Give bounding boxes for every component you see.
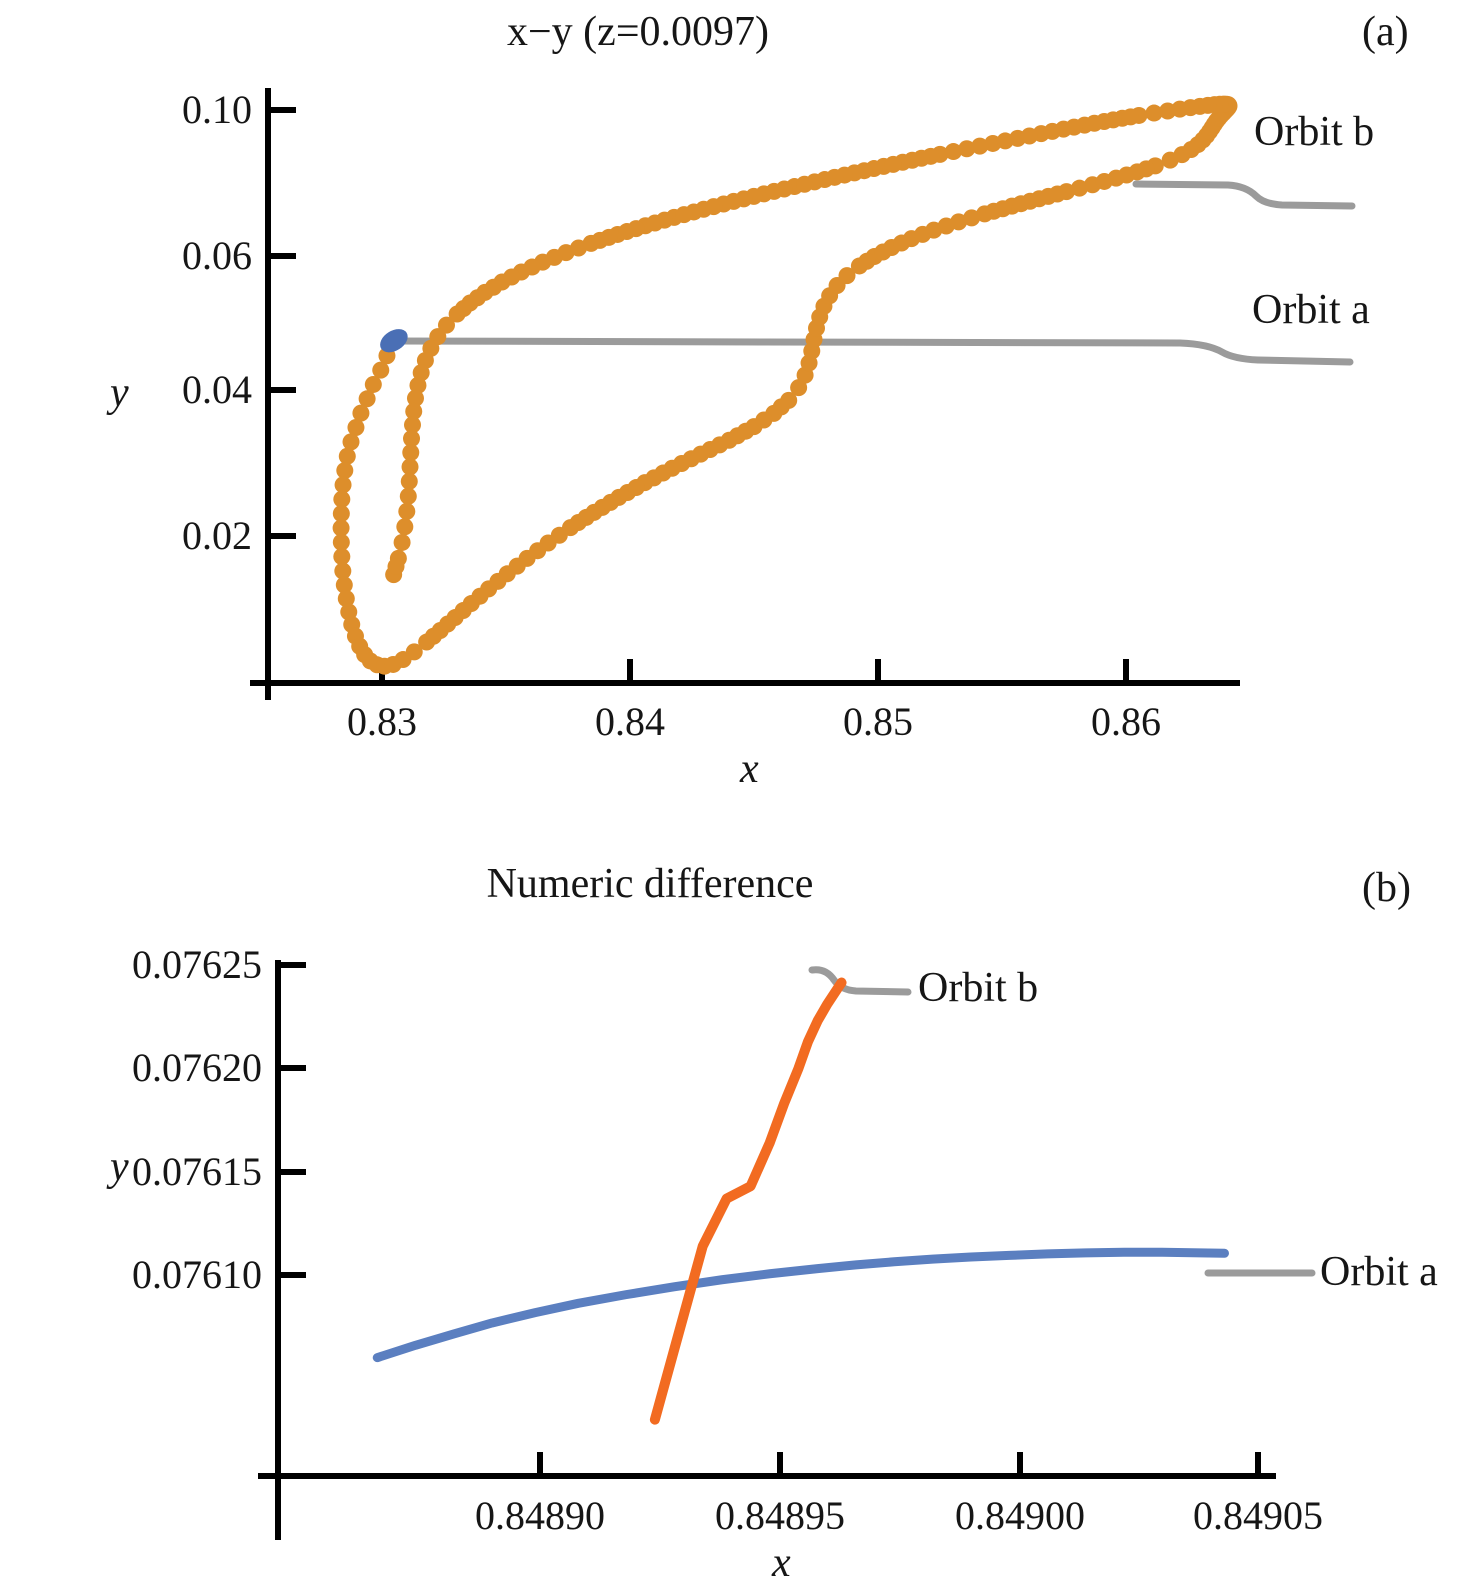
panel-b-xtick-label-0: 0.84890 bbox=[475, 1496, 605, 1536]
scatter-point bbox=[737, 423, 754, 440]
scatter-point bbox=[683, 450, 700, 467]
scatter-point bbox=[1146, 105, 1163, 122]
scatter-point bbox=[885, 156, 902, 173]
panel-a-xtick-label-3: 0.86 bbox=[1091, 702, 1161, 742]
panel-a-xtick-label-2: 0.85 bbox=[843, 702, 913, 742]
panel-a-xtick-label-0: 0.83 bbox=[347, 702, 417, 742]
scatter-point bbox=[997, 132, 1014, 149]
scatter-point bbox=[524, 259, 541, 276]
scatter-point bbox=[994, 200, 1011, 217]
panel-b: Numeric difference (b) bbox=[0, 840, 1476, 1592]
scatter-point bbox=[618, 223, 635, 240]
panel-b-xaxis-label: x bbox=[772, 1542, 791, 1584]
scatter-point bbox=[856, 162, 873, 179]
panel-a-xaxis-label: x bbox=[740, 748, 759, 790]
scatter-point bbox=[471, 588, 488, 605]
scatter-point bbox=[570, 240, 587, 257]
panel-b-ytick-label-2: 0.07620 bbox=[56, 1048, 262, 1088]
scatter-point bbox=[655, 465, 672, 482]
panel-b-ytick-label-1: 0.07615 bbox=[56, 1152, 262, 1192]
scatter-point bbox=[755, 412, 772, 429]
panel-a: x−y (z=0.0097) (a) bbox=[0, 0, 1476, 840]
scatter-point bbox=[602, 494, 619, 511]
scatter-point bbox=[489, 573, 506, 590]
scatter-point bbox=[1118, 167, 1135, 184]
panel-b-series-orbit-b bbox=[655, 983, 842, 1420]
scatter-point bbox=[1066, 119, 1083, 136]
scatter-point bbox=[766, 183, 783, 200]
scatter-point bbox=[1071, 180, 1088, 197]
scatter-point bbox=[1022, 193, 1039, 210]
scatter-point bbox=[971, 138, 988, 155]
panel-b-label-orbit-a: Orbit a bbox=[1320, 1250, 1438, 1294]
panel-a-label-orbit-b: Orbit b bbox=[1254, 110, 1374, 154]
scatter-point bbox=[675, 206, 692, 223]
scatter-point bbox=[455, 602, 472, 619]
panel-a-ytick-label-1: 0.06 bbox=[46, 236, 252, 276]
scatter-point bbox=[705, 198, 722, 215]
scatter-point bbox=[1049, 185, 1066, 202]
scatter-point bbox=[1044, 123, 1061, 140]
scatter-point bbox=[394, 534, 411, 551]
panel-a-ytick-label-3: 0.02 bbox=[46, 516, 252, 556]
panel-b-ytick-label-3: 0.07625 bbox=[56, 945, 262, 985]
scatter-point bbox=[1096, 173, 1113, 190]
scatter-point bbox=[439, 616, 456, 633]
scatter-point bbox=[336, 462, 353, 479]
scatter-point bbox=[551, 527, 568, 544]
scatter-point bbox=[455, 300, 472, 317]
scatter-point bbox=[938, 217, 955, 234]
scatter-point bbox=[963, 209, 980, 226]
scatter-point bbox=[893, 235, 910, 252]
scatter-point bbox=[874, 244, 891, 261]
panel-b-ytick-label-0: 0.07610 bbox=[56, 1255, 262, 1295]
scatter-point bbox=[509, 558, 526, 575]
scatter-point bbox=[796, 176, 813, 193]
scatter-point bbox=[591, 232, 608, 249]
panel-a-yaxis-label: y bbox=[110, 372, 129, 414]
scatter-point bbox=[400, 488, 417, 505]
panel-b-xtick-label-3: 0.84905 bbox=[1193, 1496, 1323, 1536]
panel-b-xtick-label-1: 0.84895 bbox=[715, 1496, 845, 1536]
panel-b-series-orbit-a bbox=[377, 1252, 1224, 1357]
scatter-point bbox=[914, 226, 931, 243]
scatter-point bbox=[945, 143, 962, 160]
panel-a-leader-orbit-a bbox=[390, 341, 1350, 362]
figure-container: x−y (z=0.0097) (a) bbox=[0, 0, 1476, 1592]
panel-a-ytick-label-0: 0.10 bbox=[46, 90, 252, 130]
scatter-point bbox=[913, 150, 930, 167]
panel-a-ytick-label-2: 0.04 bbox=[46, 370, 252, 410]
scatter-point bbox=[529, 542, 546, 559]
scatter-point bbox=[826, 169, 843, 186]
scatter-point bbox=[402, 458, 419, 475]
panel-a-label-orbit-a: Orbit a bbox=[1252, 288, 1370, 332]
scatter-point bbox=[503, 269, 520, 286]
scatter-point bbox=[735, 190, 752, 207]
scatter-point bbox=[1138, 160, 1155, 177]
panel-b-xtick-label-2: 0.84900 bbox=[955, 1496, 1085, 1536]
panel-b-leader-orbit-b bbox=[812, 970, 908, 992]
scatter-point bbox=[388, 558, 405, 575]
scatter-point bbox=[469, 289, 486, 306]
scatter-point bbox=[858, 253, 875, 270]
panel-b-label-orbit-b: Orbit b bbox=[918, 966, 1038, 1010]
scatter-point bbox=[711, 436, 728, 453]
scatter-point bbox=[398, 503, 415, 520]
scatter-point bbox=[339, 448, 356, 465]
scatter-point bbox=[372, 362, 389, 379]
scatter-point bbox=[1021, 128, 1038, 145]
scatter-point bbox=[343, 433, 360, 450]
scatter-point bbox=[578, 509, 595, 526]
scatter-point bbox=[401, 473, 418, 490]
scatter-point bbox=[1086, 115, 1103, 132]
panel-a-leader-orbit-b bbox=[1136, 184, 1352, 206]
scatter-point bbox=[628, 479, 645, 496]
scatter-point bbox=[1122, 108, 1139, 125]
scatter-point bbox=[425, 628, 442, 645]
scatter-point bbox=[485, 279, 502, 296]
scatter-point bbox=[546, 249, 563, 266]
panel-a-xtick-label-1: 0.84 bbox=[595, 702, 665, 742]
scatter-point bbox=[773, 398, 790, 415]
panel-b-yaxis-label: y bbox=[110, 1146, 129, 1188]
scatter-point bbox=[396, 518, 413, 535]
scatter-point bbox=[1105, 111, 1122, 128]
panel-a-scatter-series bbox=[333, 96, 1238, 675]
scatter-point bbox=[646, 214, 663, 231]
